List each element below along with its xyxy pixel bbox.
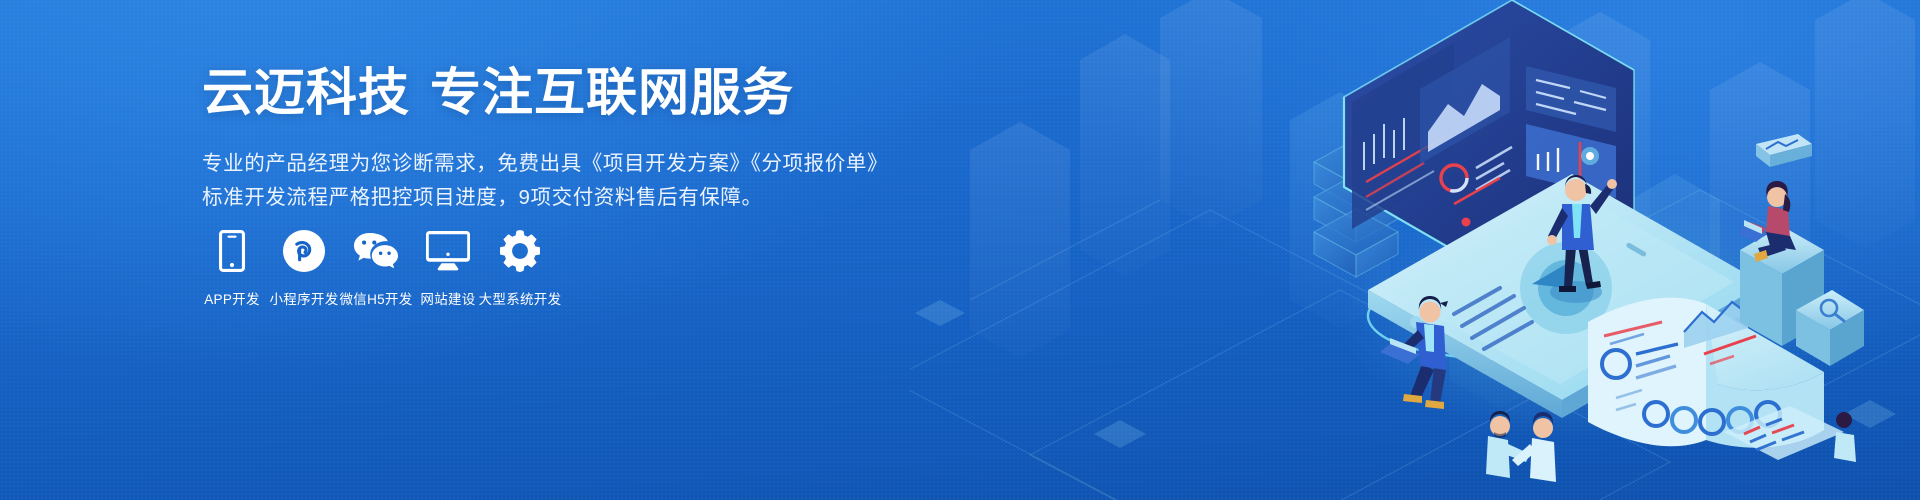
gear-icon <box>499 228 541 274</box>
service-item-large-system[interactable]: 大型系统开发 <box>484 228 556 308</box>
wechat-icon <box>353 228 399 274</box>
service-label: 微信H5开发 <box>339 288 412 308</box>
small-person-right <box>1834 412 1856 462</box>
headline-tagline: 专注互联网服务 <box>430 64 794 121</box>
service-label: 小程序开发 <box>270 288 339 308</box>
service-label: 大型系统开发 <box>479 288 562 308</box>
service-item-mini-program[interactable]: 小程序开发 <box>268 228 340 308</box>
hero-banner: 云迈科技专注互联网服务 专业的产品经理为您诊断需求，免费出具《项目开发方案》《分… <box>0 0 1920 500</box>
headline-brand: 云迈科技 <box>202 64 410 121</box>
monitor-icon <box>426 228 470 274</box>
isometric-data-dashboard-illustration <box>1304 0 1864 492</box>
service-item-wechat-h5[interactable]: 微信H5开发 <box>340 228 412 308</box>
service-item-website[interactable]: 网站建设 <box>412 228 484 308</box>
service-item-app[interactable]: APP开发 <box>196 228 268 308</box>
hero-subtitle: 专业的产品经理为您诊断需求，免费出具《项目开发方案》《分项报价单》 标准开发流程… <box>202 147 902 215</box>
subtitle-line-1: 专业的产品经理为您诊断需求，免费出具《项目开发方案》《分项报价单》 <box>202 147 902 181</box>
mobile-phone-icon <box>219 228 245 274</box>
subtitle-line-2: 标准开发流程严格把控项目进度，9项交付资料售后有保障。 <box>202 181 902 215</box>
service-label: 网站建设 <box>420 288 475 308</box>
page-title: 云迈科技专注互联网服务 <box>202 64 902 121</box>
service-list: APP开发 小程序开发 <box>196 228 556 308</box>
service-label: APP开发 <box>204 288 260 308</box>
mini-program-icon <box>283 228 325 274</box>
hero-copy: 云迈科技专注互联网服务 专业的产品经理为您诊断需求，免费出具《项目开发方案》《分… <box>202 64 902 215</box>
